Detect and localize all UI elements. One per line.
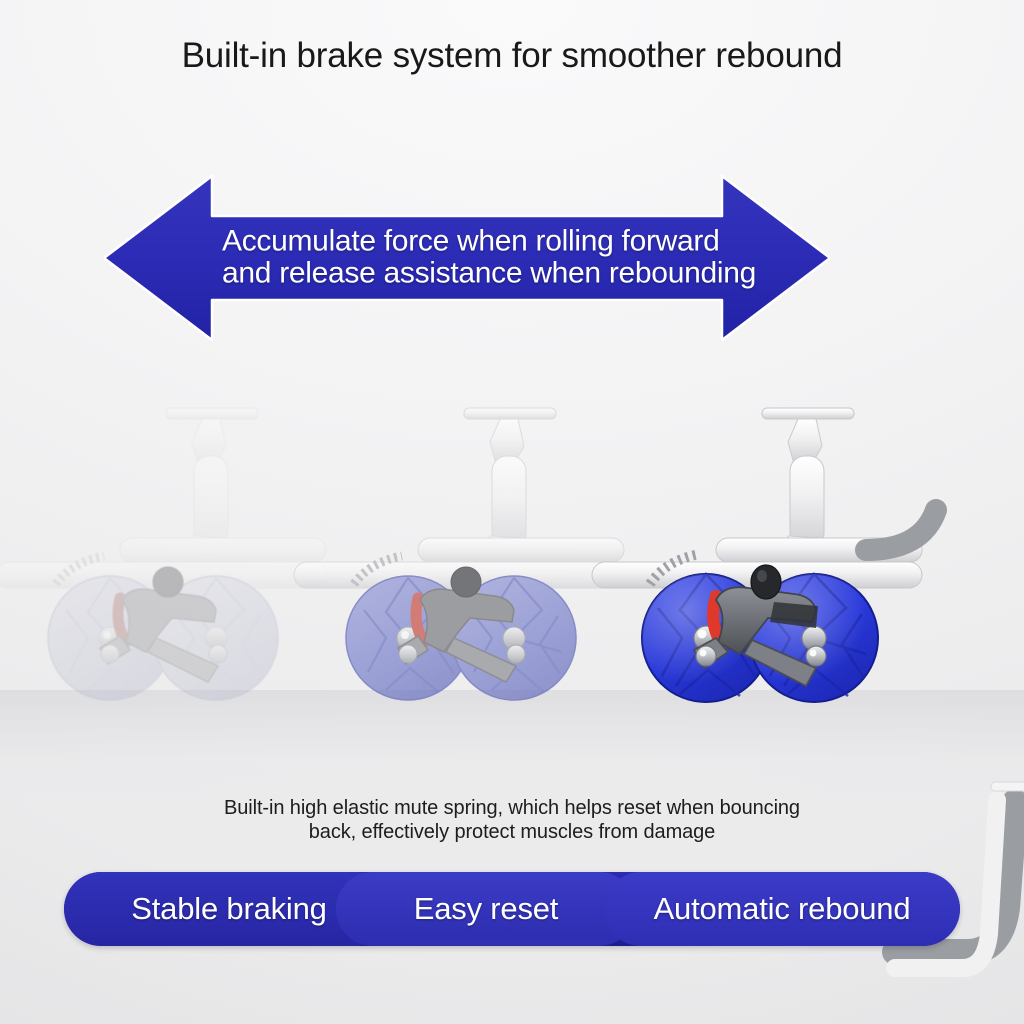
bidirectional-arrow-banner: Accumulate force when rolling forward an… — [104, 172, 830, 344]
badge-automatic-rebound[interactable]: Automatic rebound — [604, 872, 960, 946]
product-instance-solid — [566, 386, 996, 766]
product-infographic: Built-in brake system for smoother rebou… — [0, 0, 1024, 1024]
ab-roller-illustration — [566, 386, 996, 766]
badge-easy-reset[interactable]: Easy reset — [336, 872, 636, 946]
page-title: Built-in brake system for smoother rebou… — [0, 36, 1024, 76]
arrow-caption-line1: Accumulate force when rolling forward — [222, 225, 719, 258]
spring-description-caption: Built-in high elastic mute spring, which… — [120, 796, 904, 845]
product-scene — [0, 386, 1024, 766]
arrow-caption: Accumulate force when rolling forward an… — [222, 226, 712, 291]
caption-line2: back, effectively protect muscles from d… — [120, 820, 904, 844]
caption-line1: Built-in high elastic mute spring, which… — [224, 797, 800, 819]
feature-badge-bar: Stable braking Easy reset Automatic rebo… — [64, 872, 960, 946]
arrow-caption-line2: and release assistance when rebounding — [222, 258, 712, 290]
